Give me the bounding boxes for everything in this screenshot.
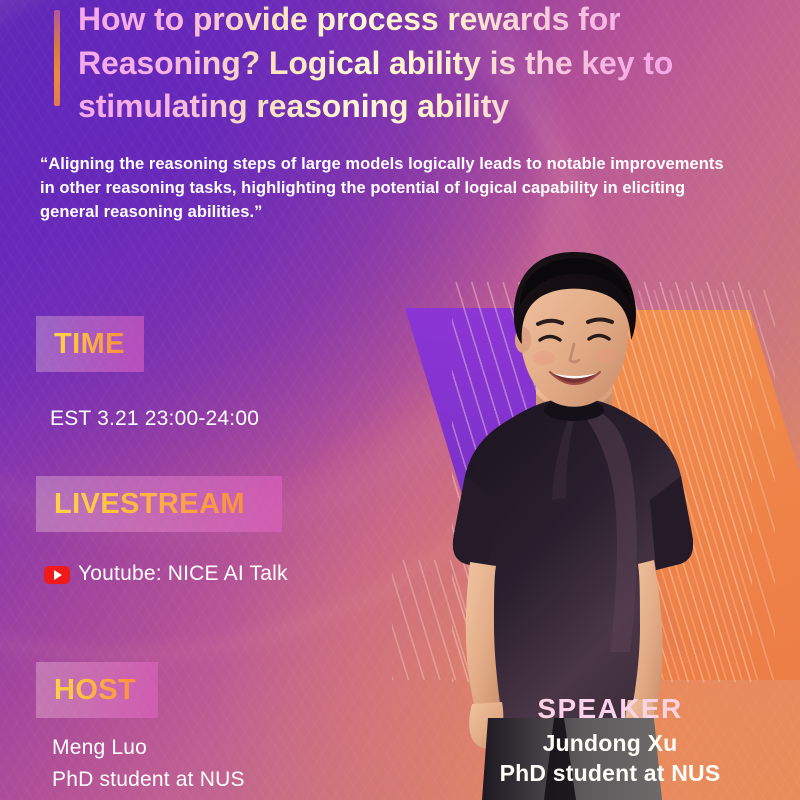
page-title: How to provide process rewards for Reaso… [78,0,718,129]
play-triangle-icon [54,570,62,580]
speaker-role: PhD student at NUS [420,759,800,787]
host-label-badge: HOST [36,662,158,718]
speaker-name: Jundong Xu [420,729,800,757]
quote-text: “Aligning the reasoning steps of large m… [40,152,730,224]
time-value: EST 3.21 23:00-24:00 [50,407,259,431]
host-name: Meng Luo [52,736,147,760]
time-label-badge: TIME [36,316,144,372]
speaker-block: SPEAKER Jundong Xu PhD student at NUS [420,692,800,787]
host-label: HOST [54,674,136,707]
speaker-label: SPEAKER [420,692,800,725]
youtube-icon[interactable] [44,566,70,584]
poster-canvas: How to provide process rewards for Reaso… [0,0,800,800]
time-label: TIME [54,328,125,361]
host-role: PhD student at NUS [52,768,245,792]
livestream-channel[interactable]: Youtube: NICE AI Talk [78,562,288,586]
title-accent-bar [54,10,60,106]
livestream-label: LIVESTREAM [54,488,245,521]
livestream-label-badge: LIVESTREAM [36,476,282,532]
